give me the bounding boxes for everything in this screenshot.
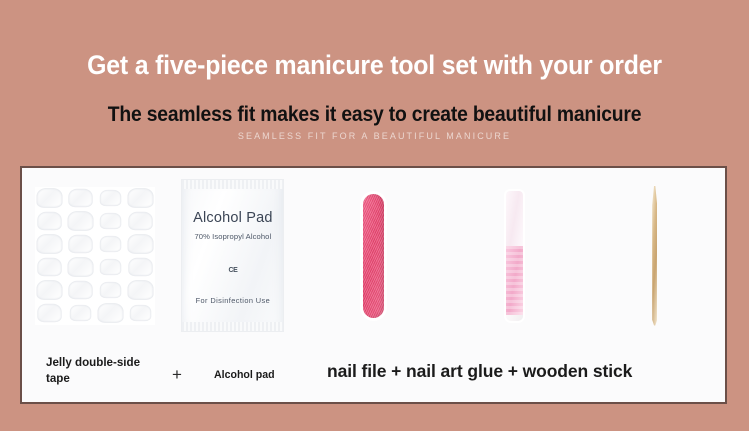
glue-body <box>506 246 523 314</box>
adhesive-tab <box>100 189 122 205</box>
adhesive-tab <box>37 280 63 300</box>
sachet-title: Alcohol Pad <box>193 210 273 226</box>
banner-micro-headline: SEAMLESS FIT FOR A BEAUTIFUL MANICURE <box>0 131 749 141</box>
product-cell-jelly-tape <box>22 168 163 343</box>
product-image-row: Alcohol Pad 70% Isopropyl Alcohol CE For… <box>22 168 725 343</box>
adhesive-tab <box>100 282 122 298</box>
adhesive-tab <box>128 280 154 300</box>
product-cell-nail-art-glue <box>444 168 585 343</box>
glue-cap <box>506 191 523 247</box>
sachet-footer: For Disinfection Use <box>196 296 271 305</box>
caption-remaining-tools: nail file + nail art glue + wooden stick <box>327 361 632 382</box>
alcohol-pad-sachet-icon: Alcohol Pad 70% Isopropyl Alcohol CE For… <box>181 179 284 332</box>
product-showcase-panel: Alcohol Pad 70% Isopropyl Alcohol CE For… <box>20 166 727 404</box>
adhesive-tab <box>130 305 152 321</box>
adhesive-tab <box>67 211 93 231</box>
adhesive-tab <box>68 235 93 254</box>
adhesive-tab <box>100 213 122 229</box>
banner-headline: Get a five-piece manicure tool set with … <box>30 50 719 81</box>
caption-plus-separator: + <box>172 365 182 385</box>
product-caption-row: Jelly double-side tape + Alcohol pad nai… <box>22 343 725 403</box>
adhesive-tab <box>68 188 93 207</box>
adhesive-tab <box>37 188 63 208</box>
glue-tip <box>506 315 523 321</box>
adhesive-tab <box>68 281 93 300</box>
adhesive-tab <box>38 211 63 230</box>
glue-tube-icon <box>506 191 523 321</box>
adhesive-tab-sheet-icon <box>35 187 155 325</box>
adhesive-tab <box>100 236 122 252</box>
sachet-ce-mark: CE <box>229 267 238 274</box>
adhesive-tab <box>128 188 154 208</box>
product-cell-wooden-stick <box>584 168 725 343</box>
adhesive-tab <box>67 257 93 277</box>
adhesive-tab <box>128 258 153 277</box>
promo-banner: Get a five-piece manicure tool set with … <box>0 0 749 431</box>
adhesive-tab <box>37 234 63 254</box>
adhesive-tab <box>38 258 63 277</box>
nail-file-icon <box>363 194 384 318</box>
adhesive-tab <box>97 303 123 323</box>
caption-alcohol-pad: Alcohol pad <box>214 369 275 381</box>
adhesive-tab <box>128 211 153 230</box>
caption-jelly-tape: Jelly double-side tape <box>46 355 158 387</box>
wooden-stick-icon <box>652 186 657 326</box>
sachet-subtitle: 70% Isopropyl Alcohol <box>194 232 271 241</box>
adhesive-tab <box>100 259 122 275</box>
product-cell-nail-file <box>303 168 444 343</box>
product-cell-alcohol-pad: Alcohol Pad 70% Isopropyl Alcohol CE For… <box>163 168 304 343</box>
adhesive-tab <box>38 304 63 323</box>
adhesive-tab <box>128 234 154 254</box>
adhesive-tab <box>69 305 91 321</box>
banner-subheadline: The seamless fit makes it easy to create… <box>30 103 719 127</box>
